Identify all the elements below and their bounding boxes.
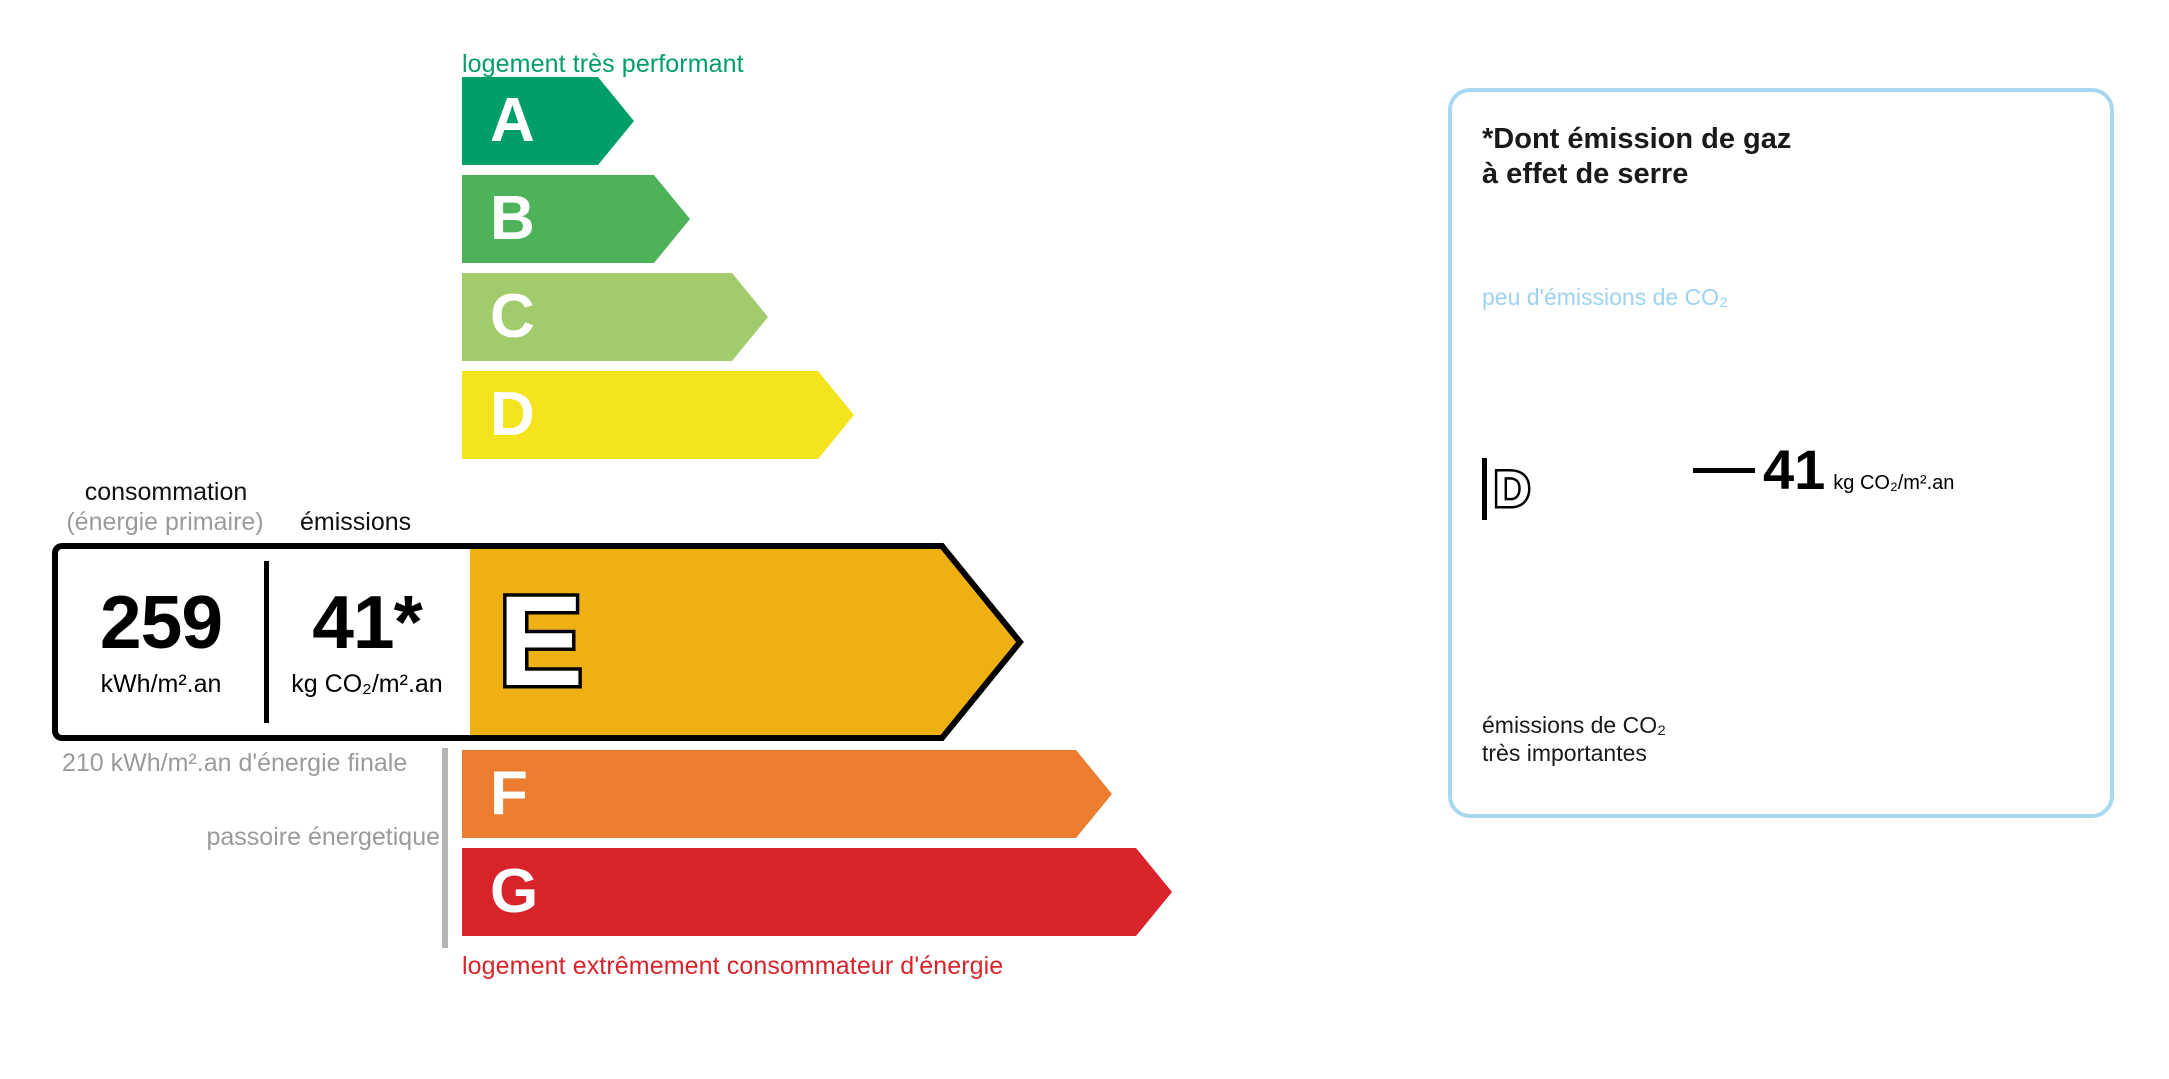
consumption-label: consommation: [66, 478, 266, 507]
co2-bar-d: [1482, 458, 1487, 520]
energy-grade-row-e-selected: E: [462, 543, 1024, 741]
energy-arrow-f: [462, 750, 1112, 838]
energy-grade-row-g: G: [462, 848, 1172, 936]
co2-grade-letter-a: A: [1496, 325, 1518, 356]
consumption-value-unit: kWh/m².an: [101, 670, 222, 699]
co2-top-caption: peu d'émissions de CO₂: [1482, 284, 1728, 311]
co2-panel-title: *Dont émission de gaz à effet de serre: [1482, 122, 1791, 192]
co2-grade-letter-g: G: [1496, 635, 1520, 666]
energy-grade-letter-g: G: [490, 861, 538, 923]
co2-emission-panel: *Dont émission de gaz à effet de serre p…: [1448, 88, 2114, 818]
dpe-value-box: 259 kWh/m².an 41* kg CO₂/m².an: [52, 543, 470, 741]
energy-grade-letter-a: A: [490, 90, 535, 152]
co2-grade-row-b: B: [1482, 369, 1608, 410]
emission-value-cell: 41* kg CO₂/m².an: [264, 549, 470, 735]
energy-grade-letter-c: C: [490, 286, 535, 348]
co2-bottom-caption: émissions de CO₂ très importantes: [1482, 712, 1666, 767]
energy-arrow-a: [462, 77, 634, 165]
emission-value-unit: kg CO₂/m².an: [291, 670, 442, 699]
co2-grade-letter-c: C: [1496, 423, 1518, 454]
primary-energy-label: (énergie primaire): [40, 508, 290, 537]
passoire-indicator-bar: [442, 748, 448, 948]
co2-grade-row-e: E: [1482, 532, 1716, 573]
emission-value: 41*: [312, 585, 422, 660]
energy-top-caption: logement très performant: [462, 50, 744, 79]
co2-grade-row-d-selected: D: [1482, 458, 1686, 520]
co2-grade-letter-b: B: [1496, 374, 1518, 405]
co2-grade-letter-f: F: [1496, 586, 1515, 617]
final-energy-label: 210 kWh/m².an d'énergie finale: [62, 748, 407, 780]
co2-grade-row-a: A: [1482, 320, 1574, 361]
co2-grade-row-g: G: [1482, 630, 1782, 671]
co2-callout-leader-line: [1693, 468, 1755, 473]
energy-grade-letter-e: E: [498, 578, 583, 706]
co2-grade-row-f: F: [1482, 581, 1749, 622]
co2-callout-value: 41: [1763, 442, 1825, 498]
energy-grade-row-d: D: [462, 371, 854, 459]
co2-grade-letter-e: E: [1496, 537, 1517, 568]
energy-grade-row-b: B: [462, 175, 690, 263]
energy-grade-row-c: C: [462, 273, 768, 361]
energy-grade-letter-b: B: [490, 188, 535, 250]
energy-grade-row-a: A: [462, 77, 634, 165]
energy-arrow-g: [462, 848, 1172, 936]
emissions-label: émissions: [300, 508, 411, 537]
energy-grade-letter-f: F: [490, 763, 528, 825]
co2-grade-letter-d: D: [1494, 464, 1530, 514]
co2-callout-unit: kg CO₂/m².an: [1833, 472, 1954, 495]
passoire-energetique-label: passoire énergetique: [180, 822, 440, 854]
co2-callout: 41 kg CO₂/m².an: [1693, 442, 1954, 498]
energy-grade-row-f: F: [462, 750, 1112, 838]
energy-bottom-caption: logement extrêmement consommateur d'éner…: [462, 952, 1003, 981]
dpe-diagram: logement très performant A B: [0, 0, 2169, 1079]
consumption-value-cell: 259 kWh/m².an: [58, 549, 264, 735]
energy-grade-letter-d: D: [490, 384, 535, 446]
co2-grade-row-c: C: [1482, 418, 1645, 459]
consumption-value: 259: [100, 585, 222, 660]
energy-performance-panel: logement très performant A B: [0, 0, 1400, 1079]
